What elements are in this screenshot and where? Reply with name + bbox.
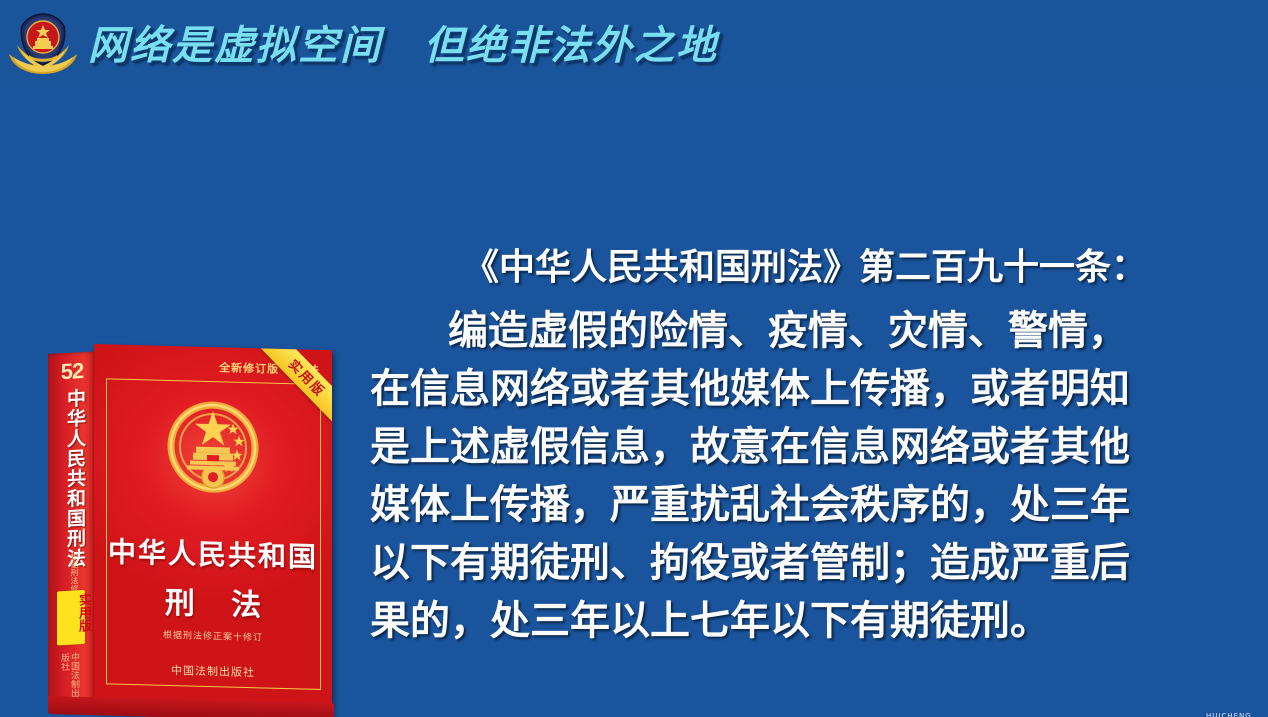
huicheng-police-watermark: HUICHENG 惠 城 公 安 POLICE xyxy=(1172,704,1264,717)
legal-line: 果的，处三年以上七年以下有期徒刑。 xyxy=(370,592,1240,650)
book-spine-number: 52 xyxy=(54,358,90,386)
book-cover-title-line2: 刑 法 xyxy=(94,576,332,626)
book-spine: 52 中华人民共和国刑法 根据刑法修正案十修订 实用版 中国法制出版社 xyxy=(48,351,96,706)
book-spine-title: 中华人民共和国刑法 xyxy=(60,388,84,569)
book-spine-badge: 实用版 xyxy=(57,590,85,646)
slide-body: 52 中华人民共和国刑法 根据刑法修正案十修订 实用版 中国法制出版社 全新修订… xyxy=(0,92,1268,717)
police-badge-icon xyxy=(6,10,80,82)
book-cover: 全新修订版 · 刑 法 实用版 xyxy=(94,344,332,716)
book-cover-title-line1: 中华人民共和国 xyxy=(94,530,332,576)
watermark-tiny-top: HUICHENG xyxy=(1206,712,1252,717)
national-emblem-icon xyxy=(157,390,269,505)
legal-article-title: 《中华人民共和国刑法》第二百九十一条： xyxy=(370,242,1240,294)
legal-line: 媒体上传播，严重扰乱社会秩序的，处三年 xyxy=(370,476,1240,534)
book-spine-badge-label: 实用版 xyxy=(64,593,92,634)
legal-line: 编造虚假的险情、疫情、灾情、警情， xyxy=(370,302,1240,360)
legal-article-block: 《中华人民共和国刑法》第二百九十一条： 编造虚假的险情、疫情、灾情、警情， 在信… xyxy=(370,242,1240,650)
header-slogan: 网络是虚拟空间 但绝非法外之地 xyxy=(88,13,718,71)
criminal-law-book-image: 52 中华人民共和国刑法 根据刑法修正案十修订 实用版 中国法制出版社 全新修订… xyxy=(48,344,336,714)
legal-line: 在信息网络或者其他媒体上传播，或者明知 xyxy=(370,360,1240,418)
header-bar: 网络是虚拟空间 但绝非法外之地 xyxy=(0,0,1268,92)
legal-article-body: 编造虚假的险情、疫情、灾情、警情， 在信息网络或者其他媒体上传播，或者明知 是上… xyxy=(370,302,1240,650)
legal-line: 以下有期徒刑、拘役或者管制；造成严重后 xyxy=(370,534,1240,592)
legal-line: 是上述虚假信息，故意在信息网络或者其他 xyxy=(370,418,1240,476)
slide-canvas: 网络是虚拟空间 但绝非法外之地 52 中华人民共和国刑法 根据刑法修正案十修订 … xyxy=(0,0,1268,717)
